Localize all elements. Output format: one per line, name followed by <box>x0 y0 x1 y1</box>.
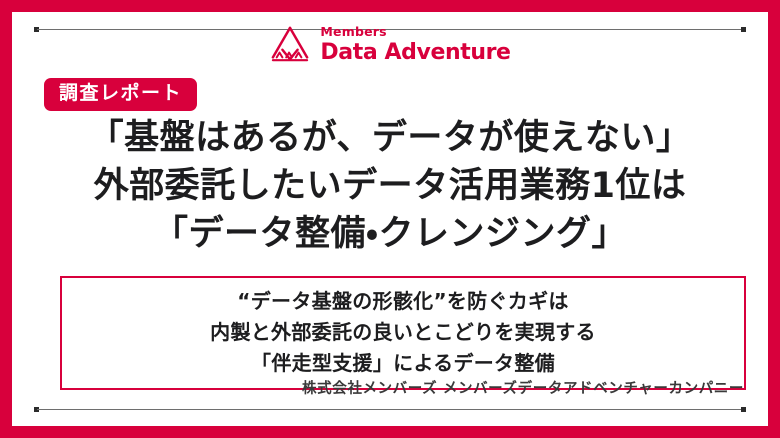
rule-line <box>37 409 743 410</box>
mountain-wave-logo-icon <box>269 26 311 64</box>
headline-line-3: 「データ整備・クレンジング」 <box>32 210 748 258</box>
page-title: 「基盤はあるが、データが使えない」 外部委託したいデータ活用業務1位は 「データ… <box>32 114 748 258</box>
headline-line-1: 「基盤はあるが、データが使えない」 <box>32 114 748 162</box>
callout-box: “データ基盤の形骸化”を防ぐカギは 内製と外部委託の良いとこどりを実現する 「伴… <box>60 276 746 390</box>
brand-logo: Members Data Adventure <box>12 26 768 64</box>
bottom-divider-rule <box>34 405 746 414</box>
report-poster: Members Data Adventure 調査レポート 「基盤はあるが、デー… <box>0 0 780 438</box>
callout-line-3: 「伴走型支援」によるデータ整備 <box>251 348 555 379</box>
callout-line-1: “データ基盤の形骸化”を防ぐカギは <box>237 286 568 317</box>
brand-wordmark-main: Data Adventure <box>320 42 510 64</box>
brand-wordmark: Members Data Adventure <box>320 26 510 64</box>
poster-inner-panel: Members Data Adventure 調査レポート 「基盤はあるが、デー… <box>12 12 768 426</box>
company-name: 株式会社メンバーズ メンバーズデータアドベンチャーカンパニー <box>302 377 744 398</box>
headline-line-2: 外部委託したいデータ活用業務1位は <box>32 162 748 210</box>
callout-line-2: 内製と外部委託の良いとこどりを実現する <box>210 317 596 348</box>
rule-cap-right-icon <box>741 407 746 412</box>
status-badge: 調査レポート <box>44 78 197 111</box>
brand-wordmark-small: Members <box>320 26 510 39</box>
